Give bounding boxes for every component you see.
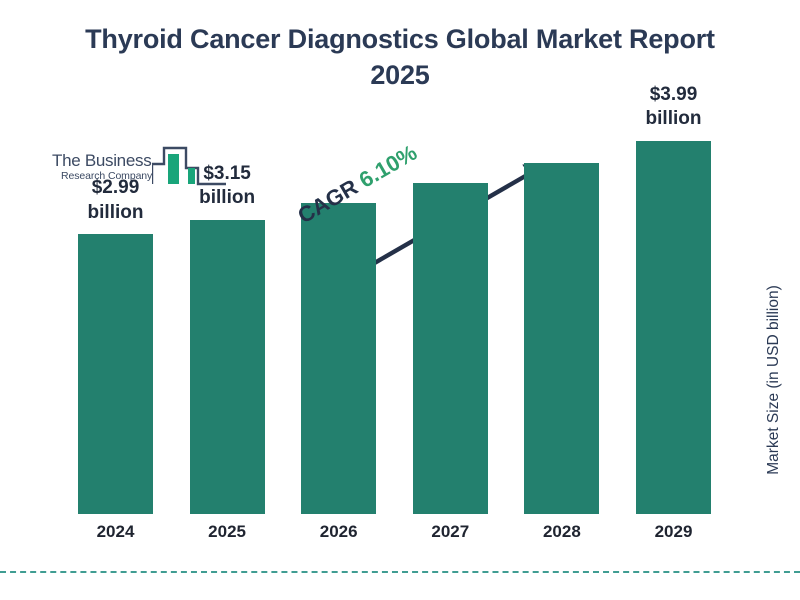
bar-value-unit-2024: billion xyxy=(52,201,179,225)
bar-value-label-2025: $3.15billion xyxy=(164,162,291,211)
bar-value-label-2029: $3.99billion xyxy=(610,83,737,132)
bar-2029[interactable] xyxy=(636,141,711,514)
bar-2027[interactable] xyxy=(413,183,488,514)
x-tick-2026: 2026 xyxy=(283,522,394,542)
bar-value-amount-2024: $2.99 xyxy=(52,176,179,200)
bar-value-amount-2029: $3.99 xyxy=(610,83,737,107)
bar-2024[interactable] xyxy=(78,234,153,514)
bar-value-amount-2025: $3.15 xyxy=(164,162,291,186)
bar-2026[interactable] xyxy=(301,203,376,514)
bar-2025[interactable] xyxy=(190,220,265,514)
x-tick-2025: 2025 xyxy=(172,522,283,542)
bar-value-unit-2025: billion xyxy=(164,186,291,210)
bar-2028[interactable] xyxy=(524,163,599,514)
x-tick-2028: 2028 xyxy=(506,522,617,542)
y-axis-title: Market Size (in USD billion) xyxy=(762,250,786,510)
x-tick-2027: 2027 xyxy=(395,522,506,542)
x-tick-2024: 2024 xyxy=(60,522,171,542)
x-tick-2029: 2029 xyxy=(618,522,729,542)
bar-value-unit-2029: billion xyxy=(610,107,737,131)
bar-value-label-2024: $2.99billion xyxy=(52,176,179,225)
plot-area: $2.99billion$3.15billion$3.99billion 202… xyxy=(0,0,800,600)
y-axis-title-text: Market Size (in USD billion) xyxy=(765,285,783,475)
bottom-divider xyxy=(0,571,800,573)
chart-canvas: Thyroid Cancer Diagnostics Global Market… xyxy=(0,0,800,600)
